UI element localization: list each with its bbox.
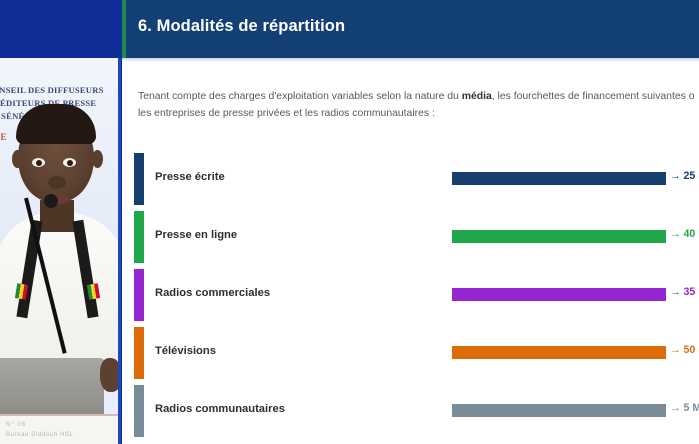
category-label: Presse écrite [155, 171, 225, 183]
category-label: Presse en ligne [155, 229, 237, 241]
category-color-swatch [134, 211, 144, 263]
funding-row: Presse en ligne→ 40 M [122, 208, 699, 266]
desk-label-top: N° 06 [6, 422, 26, 428]
speaker-ear-left [12, 150, 23, 168]
presentation-slide[interactable]: 6. Modalités de répartition Tenant compt… [122, 0, 699, 444]
category-color-swatch [134, 327, 144, 379]
slide-intro-text: Tenant compte des charges d'exploitation… [138, 88, 699, 122]
speaker-hand [100, 358, 121, 392]
header-accent-bar [122, 0, 126, 58]
speaker-ear-right [92, 150, 103, 168]
funding-bar [452, 346, 666, 359]
backdrop-text-line-1: CONSEIL DES DIFFUSEURS [0, 84, 121, 97]
desk [0, 414, 121, 444]
category-color-swatch [134, 153, 144, 205]
funding-value-label: → 35 M [670, 286, 699, 298]
slide-header: 6. Modalités de répartition [122, 0, 699, 58]
speaker-nose [48, 176, 66, 189]
header-shadow [122, 58, 699, 62]
microphone-icon [44, 194, 58, 208]
intro-text-part-2: , les fourchettes de financement suivant… [492, 91, 695, 102]
speaker-eye-right [63, 158, 76, 167]
laptop [0, 358, 104, 418]
funding-value-label: → 40 M [670, 228, 699, 240]
funding-value-label: → 5 M [670, 402, 699, 414]
slide-title: 6. Modalités de répartition [138, 17, 345, 36]
flag-badge-left-icon [15, 283, 28, 300]
category-color-swatch [134, 269, 144, 321]
category-label: Radios commerciales [155, 287, 270, 299]
video-frame[interactable]: CONSEIL DES DIFFUSEURS ET ÉDITEURS DE PR… [0, 58, 121, 444]
funding-bar [452, 404, 666, 417]
funding-row: Radios communautaires→ 5 M [122, 382, 699, 440]
backdrop-accent-text: DE [0, 132, 7, 142]
funding-bar [452, 172, 666, 185]
intro-text-emphasis: média [462, 91, 492, 102]
funding-value-label: → 50 M [670, 344, 699, 356]
category-label: Radios communautaires [155, 403, 285, 415]
category-color-swatch [134, 385, 144, 437]
funding-rows-list: Presse écrite→ 25 MPresse en ligne→ 40 M… [122, 150, 699, 440]
funding-row: Radios commerciales→ 35 M [122, 266, 699, 324]
funding-row: Télévisions→ 50 M [122, 324, 699, 382]
presenter-video-panel[interactable]: CONSEIL DES DIFFUSEURS ET ÉDITEURS DE PR… [0, 0, 122, 444]
desk-label-bottom: Bureau Diddouh HSL [6, 432, 74, 438]
intro-text-line-2: les entreprises de presse privées et les… [138, 108, 435, 119]
funding-bar [452, 288, 666, 301]
funding-bar [452, 230, 666, 243]
category-label: Télévisions [155, 345, 216, 357]
speaker-eye-left [32, 158, 45, 167]
funding-row: Presse écrite→ 25 M [122, 150, 699, 208]
flag-badge-right-icon [87, 283, 100, 300]
screenshot-root: CONSEIL DES DIFFUSEURS ET ÉDITEURS DE PR… [0, 0, 699, 444]
funding-value-label: → 25 M [670, 170, 699, 182]
intro-text-part-1: Tenant compte des charges d'exploitation… [138, 91, 462, 102]
